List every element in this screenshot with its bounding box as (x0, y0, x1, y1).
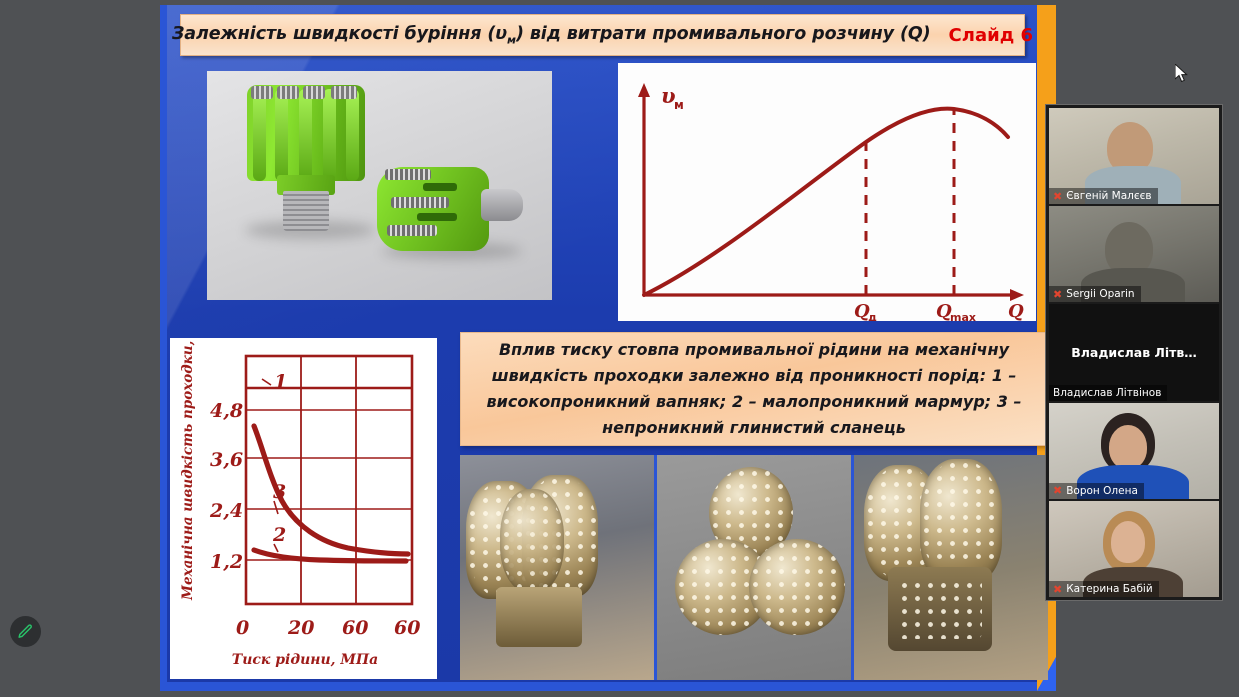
x-tick-label: 60 (394, 617, 420, 639)
bit-blade (275, 89, 288, 181)
slide-title-subscript: м (507, 33, 516, 46)
slide-title: Залежність швидкості буріння (υм) від ви… (172, 24, 931, 47)
bit-cutters (303, 86, 325, 99)
x-tick-label: 0 (236, 617, 249, 639)
bit-threaded-shank (283, 191, 329, 231)
series-label-1: 1 (274, 371, 287, 393)
participant-face (1111, 521, 1145, 563)
x-tick-label-qmax-sub: max (950, 311, 976, 321)
video-tile-1[interactable]: ✖ Sergii Oparin (1049, 206, 1219, 302)
cone-studs (500, 489, 564, 593)
tricone-bit-photo-3 (854, 455, 1048, 680)
bit-junk-slot (423, 183, 457, 191)
bit-cutters (385, 169, 431, 180)
chart-vm-vs-q-svg: υ м Q д Q max Q (618, 63, 1036, 321)
y-axis-title: Механічна швидкість проходки, м/год (180, 338, 196, 601)
video-tile-0[interactable]: ✖ Євгеній Малєєв (1049, 108, 1219, 204)
slide-title-main: Залежність швидкості буріння (υ (172, 24, 507, 44)
mic-muted-icon: ✖ (1053, 289, 1062, 300)
presentation-slide[interactable]: Залежність швидкості буріння (υм) від ви… (160, 5, 1056, 691)
bit-body (496, 587, 582, 647)
x-axis-arrow (1010, 289, 1024, 301)
pdc-drill-bits-photo (207, 71, 552, 300)
mic-muted-icon: ✖ (1053, 191, 1062, 202)
series-leader-1 (262, 379, 271, 385)
bit-cutters (331, 86, 357, 99)
bit-blade (299, 89, 312, 181)
pdc-bit-lying (377, 163, 527, 255)
participant-face (1109, 425, 1147, 469)
video-tile-2[interactable]: Владислав Літв… Владислав Літвінов (1049, 304, 1219, 400)
participant-nametag-2: Владислав Літвінов (1049, 385, 1167, 401)
tricone-bits-photo-strip (460, 455, 1048, 680)
bit-blade (346, 89, 359, 181)
pdc-bit-upright (247, 85, 365, 230)
roller-cone (920, 459, 1002, 583)
y-tick-label: 1,2 (210, 551, 243, 573)
slide-caption-text: Вплив тиску стовпа промивальної рідини н… (477, 337, 1031, 441)
y-tick-label: 2,4 (209, 500, 243, 522)
chart-vm-vs-q: υ м Q д Q max Q (618, 63, 1036, 321)
bit-pin-connection (481, 189, 523, 221)
video-tile-3[interactable]: ✖ Ворон Олена (1049, 403, 1219, 499)
body-studs (898, 579, 982, 639)
slide-title-bar: Залежність швидкості буріння (υм) від ви… (180, 14, 1025, 56)
roller-cone (749, 539, 845, 635)
bit-cutters (277, 86, 299, 99)
x-tick-label-qd-sub: д (868, 311, 877, 321)
participant-nametag-1: ✖ Sergii Oparin (1049, 286, 1141, 302)
x-axis-title: Тиск рідини, МПа (232, 652, 378, 668)
cone-studs (749, 539, 845, 635)
video-tile-4[interactable]: ✖ Катерина Бабій (1049, 501, 1219, 597)
slide-left-border (160, 5, 167, 691)
y-tick-label: 4,8 (210, 400, 243, 422)
participant-name: Ворон Олена (1066, 485, 1138, 497)
bit-cutters (391, 197, 449, 208)
x-tick-label: 20 (287, 617, 314, 639)
x-axis-label: Q (1008, 301, 1024, 321)
series-label-3: 3 (273, 481, 286, 503)
participant-name: Катерина Бабій (1066, 583, 1152, 595)
bit-blade (323, 89, 336, 181)
bit-cutters (251, 86, 273, 99)
participant-nametag-3: ✖ Ворон Олена (1049, 483, 1144, 499)
annotate-button[interactable] (10, 616, 41, 647)
participant-nametag-0: ✖ Євгеній Малєєв (1049, 188, 1158, 204)
series-label-2: 2 (272, 524, 286, 546)
x-tick-label: 60 (342, 617, 368, 639)
participant-nametag-4: ✖ Катерина Бабій (1049, 581, 1159, 597)
slide-caption-box: Вплив тиску стовпа промивальної рідини н… (460, 332, 1048, 446)
participant-name: Владислав Літвінов (1053, 387, 1161, 399)
slide-number-badge: Слайд 6 (949, 25, 1033, 46)
slide-title-tail: ) від витрати промивального розчину (Q) (516, 24, 931, 44)
roller-cone (500, 489, 564, 593)
video-participants-panel[interactable]: ✖ Євгеній Малєєв ✖ Sergii Oparin Владисл… (1045, 104, 1223, 601)
participant-name: Євгеній Малєєв (1066, 190, 1151, 202)
y-axis-label-subscript: м (674, 98, 684, 112)
y-axis-arrow (638, 83, 650, 97)
chart-rate-vs-pressure-svg: 1 3 2 4,8 3,6 2,4 1,2 0 20 60 60 Тиск рі… (170, 338, 437, 679)
mic-muted-icon: ✖ (1053, 584, 1062, 595)
participant-name: Sergii Oparin (1066, 288, 1134, 300)
mic-muted-icon: ✖ (1053, 485, 1062, 496)
bit-blade (253, 89, 266, 181)
chart-rate-vs-pressure: 1 3 2 4,8 3,6 2,4 1,2 0 20 60 60 Тиск рі… (170, 338, 437, 679)
bit-cutters (387, 225, 437, 236)
cone-studs (920, 459, 1002, 583)
tricone-bit-photo-1 (460, 455, 654, 680)
pencil-icon (17, 623, 34, 640)
mouse-cursor (1175, 64, 1189, 84)
tricone-bit-photo-2 (657, 455, 851, 680)
slide-bottom-border (160, 682, 1056, 691)
y-tick-label: 3,6 (210, 449, 243, 471)
bit-junk-slot (417, 213, 457, 221)
